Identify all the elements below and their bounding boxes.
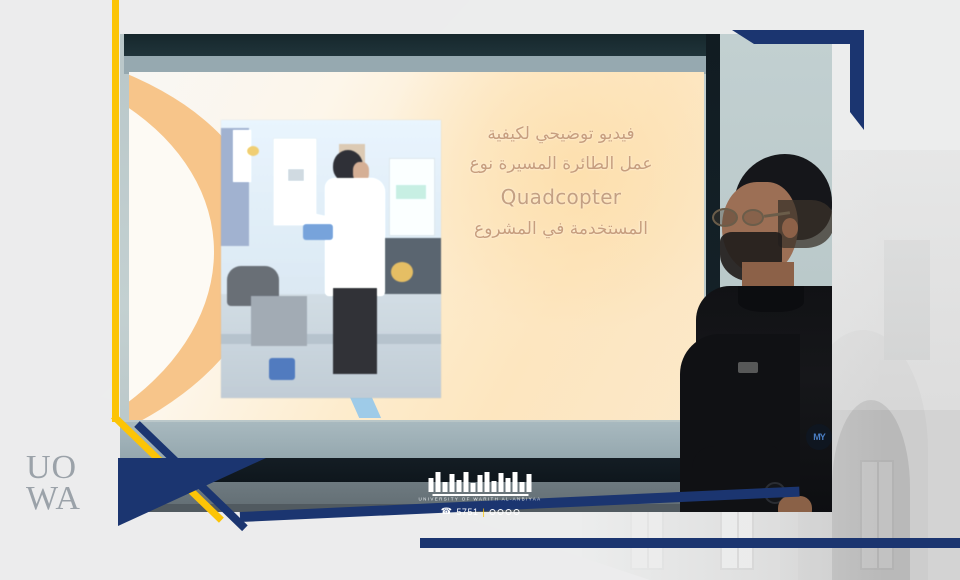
uowa-monogram: UO WA: [26, 452, 106, 515]
youtube-icon[interactable]: [513, 509, 519, 515]
monitor-badge-icon: MY: [806, 424, 832, 450]
instagram-icon[interactable]: [497, 509, 503, 515]
phone-number: 5751: [456, 507, 478, 517]
twitter-icon[interactable]: [505, 509, 511, 515]
university-name-en: UNIVERSITY OF WARITH AL-ANBIYAA: [416, 497, 545, 502]
slide-arabic-line-1: فيديو توضيحي لكيفية: [436, 120, 686, 150]
slide-arabic-line-2: عمل الطائرة المسيرة نوع: [436, 150, 686, 180]
embedded-video-thumbnail: [221, 120, 441, 398]
contact-row: ☎ 5751 |: [429, 506, 532, 517]
presenter-glasses: [712, 208, 778, 228]
facebook-icon[interactable]: [489, 509, 495, 515]
presenter: [686, 146, 832, 512]
slide-arabic-line-3: المستخدمة في المشروع: [436, 215, 686, 245]
divider-pipe: |: [482, 507, 485, 517]
presenter-arm: [692, 446, 778, 512]
social-icons: [489, 509, 519, 515]
yellow-vertical-rule: [112, 0, 119, 422]
screenshot-stage: فيديو توضيحي لكيفية عمل الطائرة المسيرة …: [0, 0, 960, 580]
navy-corner-bracket-top-right: [732, 30, 864, 130]
presentation-photo: فيديو توضيحي لكيفية عمل الطائرة المسيرة …: [120, 34, 832, 512]
presenter-ear: [782, 218, 798, 238]
presenter-shirt-logo: [738, 362, 758, 373]
projected-slide: فيديو توضيحي لكيفية عمل الطائرة المسيرة …: [129, 72, 704, 420]
presenter-collar: [738, 286, 804, 312]
presenter-hand: [778, 496, 812, 512]
slide-english-line: Quadcopter: [436, 180, 686, 215]
navy-bottom-band: [420, 538, 960, 548]
slide-text-block: فيديو توضيحي لكيفية عمل الطائرة المسيرة …: [436, 120, 686, 244]
projector-screen-bezel: [124, 34, 708, 56]
uowa-monogram-line-2: WA: [26, 483, 106, 514]
kufic-wordmark-icon: [429, 472, 532, 492]
university-logo-lockup: UNIVERSITY OF WARITH AL-ANBIYAA ☎ 5751 |: [429, 472, 532, 517]
uowa-monogram-line-1: UO: [26, 452, 106, 483]
navy-triangle-accent: [118, 458, 266, 526]
phone-icon: ☎: [441, 506, 453, 517]
wall-below-screen: [120, 422, 712, 462]
